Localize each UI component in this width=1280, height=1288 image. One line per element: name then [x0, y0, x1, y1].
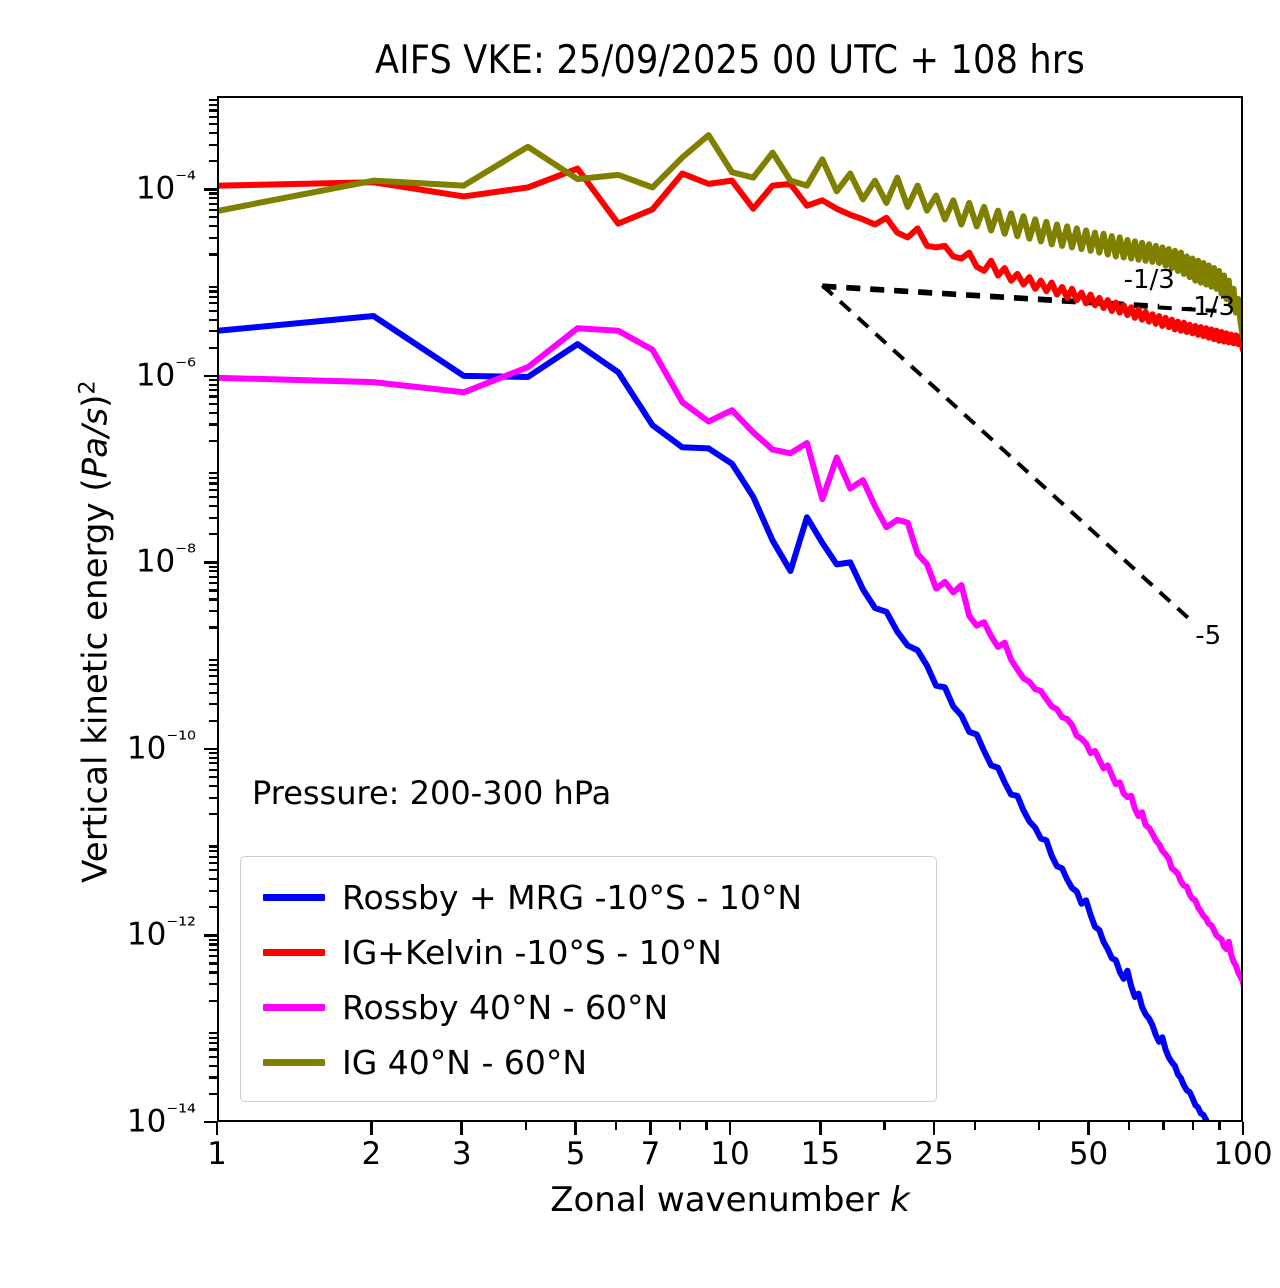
y-axis-title-suffix: ) [76, 395, 116, 408]
y-axis-minor-tick [209, 384, 217, 386]
y-axis-minor-tick [209, 626, 217, 628]
legend-color-swatch [263, 1004, 325, 1011]
x-axis-minor-tick [705, 1122, 707, 1130]
y-axis-title-prefix: Vertical kinetic energy ( [76, 478, 116, 883]
y-axis-minor-tick [209, 347, 217, 349]
x-axis-tick [649, 1122, 652, 1135]
y-axis-minor-tick [209, 1032, 217, 1034]
y-axis-minor-tick [209, 1048, 217, 1050]
y-axis-minor-tick [209, 669, 217, 671]
y-axis-minor-tick [209, 878, 217, 880]
y-axis-minor-tick [209, 423, 217, 425]
y-axis-tick [204, 375, 217, 378]
legend-item[interactable]: Rossby + MRG -10°S - 10°N [257, 870, 920, 925]
x-axis-minor-tick [525, 1122, 527, 1130]
legend-item-label: Rossby 40°N - 60°N [342, 991, 668, 1024]
slope-annotation: -1/3 [1124, 265, 1175, 295]
y-axis-minor-tick [209, 890, 217, 892]
y-axis-minor-tick [209, 216, 217, 218]
x-axis-tick [460, 1122, 463, 1135]
legend-item-label: IG 40°N - 60°N [342, 1046, 587, 1079]
y-axis-minor-tick [209, 379, 217, 381]
legend-color-swatch [263, 1059, 325, 1066]
y-axis-minor-tick [209, 132, 217, 134]
legend-item-label: Rossby + MRG -10°S - 10°N [342, 881, 802, 914]
y-axis-minor-tick [209, 939, 217, 941]
slope-annotation: -5 [1195, 621, 1221, 651]
x-axis-tick [216, 1122, 219, 1135]
x-axis-tick-label: 10 [710, 1136, 749, 1172]
y-axis-minor-tick [209, 477, 217, 479]
y-axis-minor-tick [209, 395, 217, 397]
x-axis-tick-label: 15 [801, 1136, 840, 1172]
y-axis-minor-tick [209, 566, 217, 568]
y-axis-minor-tick [209, 962, 217, 964]
y-axis-minor-tick [209, 862, 217, 864]
y-axis-minor-tick [209, 389, 217, 391]
y-axis-title-exponent: 2 [74, 380, 100, 394]
legend-color-swatch [263, 894, 325, 901]
y-axis-minor-tick [209, 776, 217, 778]
y-axis-minor-tick [209, 983, 217, 985]
y-axis-minor-tick [209, 752, 217, 754]
y-axis-minor-tick [209, 286, 217, 288]
y-axis-minor-tick [209, 1076, 217, 1078]
x-axis-title-italic: k [890, 1180, 910, 1220]
y-axis-minor-tick [209, 209, 217, 211]
x-axis-minor-tick [1218, 1122, 1220, 1130]
y-axis-tick-label: 10⁻¹² [127, 913, 196, 952]
x-axis-tick [933, 1122, 936, 1135]
x-axis-tick-label: 100 [1213, 1136, 1272, 1172]
y-axis-title-italic: Pa/s [76, 408, 116, 479]
x-axis-minor-tick [1192, 1122, 1194, 1130]
y-axis-minor-tick [209, 610, 217, 612]
y-axis-minor-tick [209, 116, 217, 118]
x-axis-minor-tick [1128, 1122, 1130, 1130]
y-axis-minor-tick [209, 517, 217, 519]
x-axis-tick [819, 1122, 822, 1135]
y-axis-minor-tick [209, 683, 217, 685]
y-axis-minor-tick [209, 197, 217, 199]
y-axis-minor-tick [209, 290, 217, 292]
x-axis-minor-tick [1038, 1122, 1040, 1130]
y-axis-minor-tick [209, 482, 217, 484]
chart-title: AIFS VKE: 25/09/2025 00 UTC + 108 hrs [217, 38, 1243, 84]
reference-lines-group [822, 285, 1216, 624]
y-axis-minor-tick [209, 1000, 217, 1002]
plot-area: -1/3-1/3-5 Pressure: 200-300 hPa Rossby … [217, 96, 1243, 1122]
y-axis-minor-tick [209, 144, 217, 146]
y-axis-minor-tick [209, 675, 217, 677]
y-axis-minor-tick [209, 971, 217, 973]
y-axis-minor-tick [209, 302, 217, 304]
x-axis-title-prefix: Zonal wavenumber [550, 1180, 890, 1220]
y-axis-minor-tick [209, 1065, 217, 1067]
y-axis-minor-tick [209, 203, 217, 205]
y-axis-minor-tick [209, 237, 217, 239]
y-axis-minor-tick [209, 785, 217, 787]
y-axis-minor-tick [209, 598, 217, 600]
y-axis-tick [204, 561, 217, 564]
x-axis-tick [574, 1122, 577, 1135]
x-axis-tick-label: 1 [207, 1136, 227, 1172]
y-axis-tick-label: 10⁻⁶ [136, 354, 196, 393]
y-axis-minor-tick [209, 1093, 217, 1095]
y-axis-tick-label: 10⁻¹⁰ [127, 727, 196, 766]
y-axis-minor-tick [209, 310, 217, 312]
y-axis-minor-tick [209, 664, 217, 666]
x-axis-minor-tick [1162, 1122, 1164, 1130]
y-axis-minor-tick [209, 1056, 217, 1058]
x-axis-tick [1242, 1122, 1245, 1135]
x-axis-minor-tick [615, 1122, 617, 1130]
data-series-line [219, 135, 1243, 336]
y-axis-minor-tick [209, 943, 217, 945]
y-axis-minor-tick [209, 856, 217, 858]
y-axis-minor-tick [209, 576, 217, 578]
y-axis-tick [204, 188, 217, 191]
y-axis-minor-tick [209, 757, 217, 759]
legend-item[interactable]: IG 40°N - 60°N [257, 1035, 920, 1090]
y-axis-minor-tick [209, 472, 217, 474]
y-axis-minor-tick [209, 1037, 217, 1039]
y-axis-minor-tick [209, 949, 217, 951]
x-axis-tick-label: 25 [914, 1136, 953, 1172]
x-axis-tick-label: 2 [362, 1136, 382, 1172]
y-axis-minor-tick [209, 440, 217, 442]
x-axis-minor-tick [974, 1122, 976, 1130]
y-axis-minor-tick [209, 505, 217, 507]
y-axis-minor-tick [209, 769, 217, 771]
reference-slope-line [822, 285, 1195, 624]
y-axis-minor-tick [209, 582, 217, 584]
x-axis-tick-label: 3 [452, 1136, 472, 1172]
legend-color-swatch [263, 949, 325, 956]
y-axis-minor-tick [209, 813, 217, 815]
y-axis-minor-tick [209, 589, 217, 591]
y-axis-minor-tick [209, 489, 217, 491]
y-axis-minor-tick [209, 762, 217, 764]
y-axis-minor-tick [209, 850, 217, 852]
y-axis-minor-tick [209, 253, 217, 255]
y-axis-minor-tick [209, 955, 217, 957]
y-axis-minor-tick [209, 906, 217, 908]
y-axis-tick [204, 934, 217, 937]
y-axis-minor-tick [209, 160, 217, 162]
y-axis-title: Vertical kinetic energy (Pa/s)2 [74, 222, 115, 1042]
y-axis-minor-tick [209, 533, 217, 535]
legend-item[interactable]: IG+Kelvin -10°S - 10°N [257, 925, 920, 980]
x-axis-tick [370, 1122, 373, 1135]
y-axis-minor-tick [209, 869, 217, 871]
x-axis-tick-label: 5 [566, 1136, 586, 1172]
legend-item-label: IG+Kelvin -10°S - 10°N [342, 936, 722, 969]
y-axis-tick-label: 10⁻¹⁴ [127, 1100, 196, 1139]
data-series-line [219, 169, 1243, 350]
y-axis-minor-tick [209, 703, 217, 705]
y-axis-minor-tick [209, 109, 217, 111]
x-axis-tick [729, 1122, 732, 1135]
y-axis-minor-tick [209, 1042, 217, 1044]
y-axis-minor-tick [209, 192, 217, 194]
y-axis-minor-tick [209, 720, 217, 722]
y-axis-minor-tick [209, 496, 217, 498]
y-axis-minor-tick [209, 330, 217, 332]
y-axis-minor-tick [209, 797, 217, 799]
y-axis-tick [204, 748, 217, 751]
x-axis-title: Zonal wavenumber k [217, 1180, 1243, 1220]
y-axis-minor-tick [209, 845, 217, 847]
x-axis-tick-label: 7 [641, 1136, 661, 1172]
legend-item[interactable]: Rossby 40°N - 60°N [257, 980, 920, 1035]
x-axis-tick-label: 50 [1069, 1136, 1108, 1172]
slope-annotation: -1/3 [1184, 292, 1235, 322]
y-axis-tick-label: 10⁻⁸ [136, 540, 196, 579]
x-axis-tick [1087, 1122, 1090, 1135]
y-axis-minor-tick [209, 225, 217, 227]
y-axis-minor-tick [209, 570, 217, 572]
chart-legend[interactable]: Rossby + MRG -10°S - 10°NIG+Kelvin -10°S… [240, 856, 937, 1102]
x-axis-minor-tick [679, 1122, 681, 1130]
y-axis-minor-tick [209, 659, 217, 661]
y-axis-minor-tick [209, 296, 217, 298]
y-axis-minor-tick [209, 104, 217, 106]
y-axis-minor-tick [209, 99, 217, 101]
y-axis-minor-tick [209, 412, 217, 414]
y-axis-minor-tick [209, 403, 217, 405]
x-axis-minor-tick [883, 1122, 885, 1130]
pressure-annotation: Pressure: 200-300 hPa [252, 774, 611, 812]
y-axis-tick-label: 10⁻⁴ [136, 167, 196, 206]
y-axis-minor-tick [209, 692, 217, 694]
y-axis-minor-tick [209, 123, 217, 125]
y-axis-minor-tick [209, 319, 217, 321]
